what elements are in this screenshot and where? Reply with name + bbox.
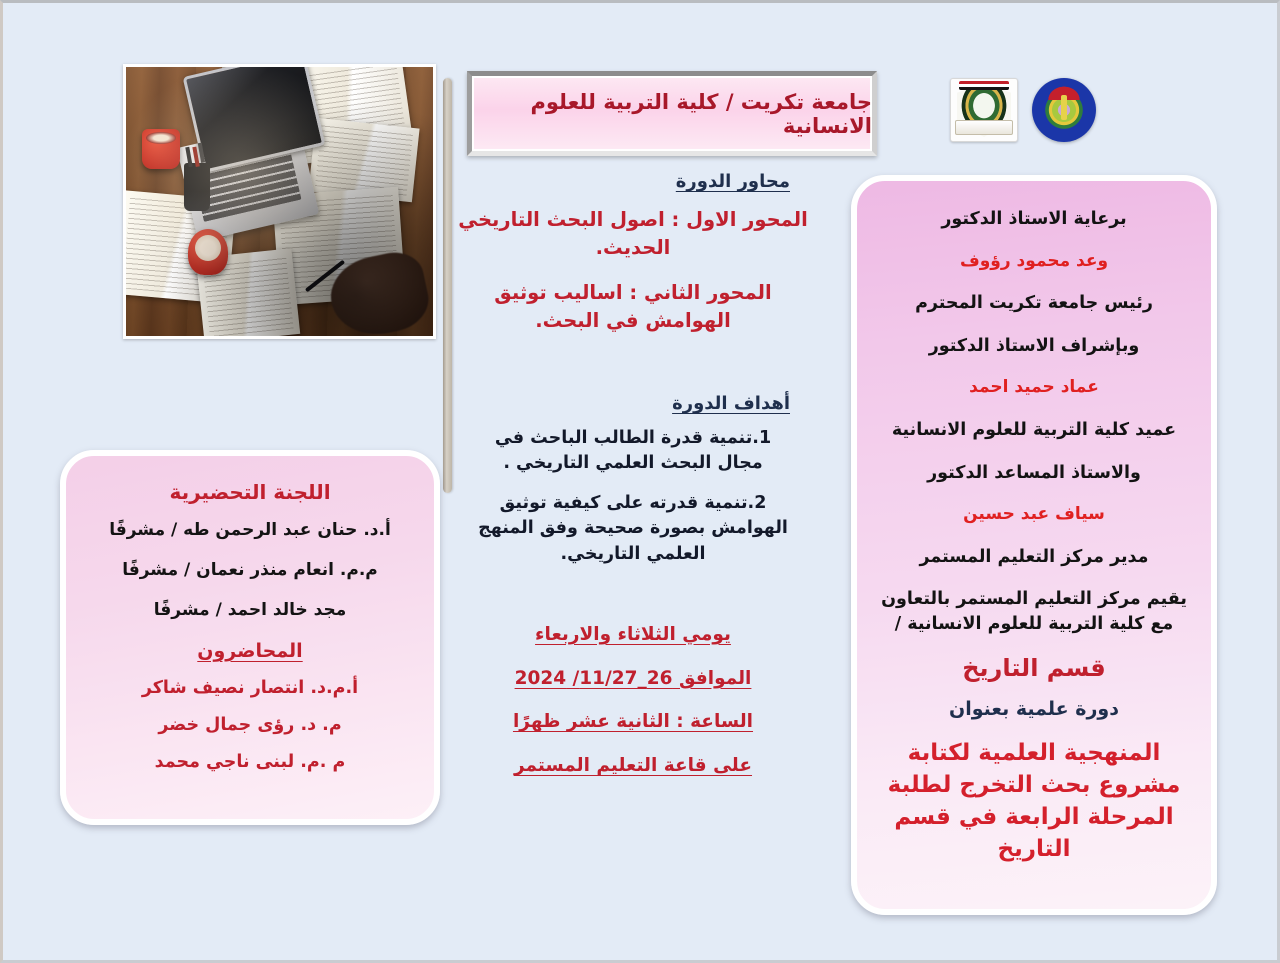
schedule-block: يومي الثلاثاء والاربعاء الموافق 26_11/27… [458,621,808,780]
schedule-time: الساعة : الثانية عشر ظهرًا [458,708,808,736]
flag-stripe [959,81,1009,90]
photo-vignette [126,67,433,336]
committee-heading: اللجنة التحضيرية [90,480,410,504]
committee-member-1: أ.د. حنان عبد الرحمن طه / مشرفًا [90,520,410,540]
course-subtitle: دورة علمية بعنوان [877,698,1191,720]
ribbon-banner [955,120,1013,135]
university-title: جامعة تكريت / كلية التربية للعلوم الانسا… [472,90,872,138]
lecturer-2: م. د. رؤى جمال خضر [90,715,410,735]
emblem-group [931,75,1096,145]
course-title: المنهجية العلمية لكتابة مشروع بحث التخرج… [877,738,1191,865]
goal-item-1: 1.تنمية قدرة الطالب الباحث في مجال البحث… [458,426,808,477]
supervisor-label: وبإشراف الاستاذ الدكتور [877,334,1191,359]
assistant-label: والاستاذ المساعد الدكتور [877,461,1191,486]
goal-item-2: 2.تنمية قدرته على كيفية توثيق الهوامش بص… [458,491,808,567]
patron-name: وعد محمود رؤوف [877,250,1191,274]
goals-heading: أهداف الدورة [458,393,808,414]
study-desk-photo [123,64,436,339]
supervisor-title: عميد كلية التربية للعلوم الانسانية [877,418,1191,443]
photo-content [126,67,433,336]
vertical-divider [443,78,452,493]
committee-member-3: مجد خالد احمد / مشرفًا [90,600,410,620]
schedule-date: الموافق 26_11/27/ 2024 [458,665,808,693]
assistant-title: مدير مركز التعليم المستمر [877,545,1191,570]
patron-label: برعاية الاستاذ الدكتور [877,207,1191,232]
header-banner: جامعة تكريت / كلية التربية للعلوم الانسا… [467,71,877,156]
schedule-days: يومي الثلاثاء والاربعاء [458,621,808,649]
committee-member-2: م.م. انعام منذر نعمان / مشرفًا [90,560,410,580]
lecturers-heading: المحاضرون [90,640,410,662]
axes-heading: محاور الدورة [458,171,808,192]
college-of-education-emblem [1032,78,1096,142]
supervisor-name: عماد حميد احمد [877,376,1191,400]
organizer-line: يقيم مركز التعليم المستمر بالتعاون مع كل… [877,587,1191,636]
center-content: محاور الدورة المحور الاول : اصول البحث ا… [458,171,808,796]
axis-item-1: المحور الاول : اصول البحث التاريخي الحدي… [458,206,808,263]
assistant-name: سياف عبد حسين [877,503,1191,527]
poster-root: جامعة تكريت / كلية التربية للعلوم الانسا… [0,0,1280,963]
lecturer-3: م .م. لبنى ناجي محمد [90,752,410,772]
lecturer-1: أ.م.د. انتصار نصيف شاكر [90,678,410,698]
schedule-venue: على قاعة التعليم المستمر [458,752,808,780]
patronage-panel: برعاية الاستاذ الدكتور وعد محمود رؤوف رئ… [851,175,1217,915]
patron-title: رئيس جامعة تكريت المحترم [877,291,1191,316]
tikrit-university-emblem [950,78,1018,142]
preparatory-committee-panel: اللجنة التحضيرية أ.د. حنان عبد الرحمن طه… [60,450,440,825]
department-name: قسم التاريخ [877,654,1191,682]
axis-item-2: المحور الثاني : اساليب توثيق الهوامش في … [458,279,808,336]
